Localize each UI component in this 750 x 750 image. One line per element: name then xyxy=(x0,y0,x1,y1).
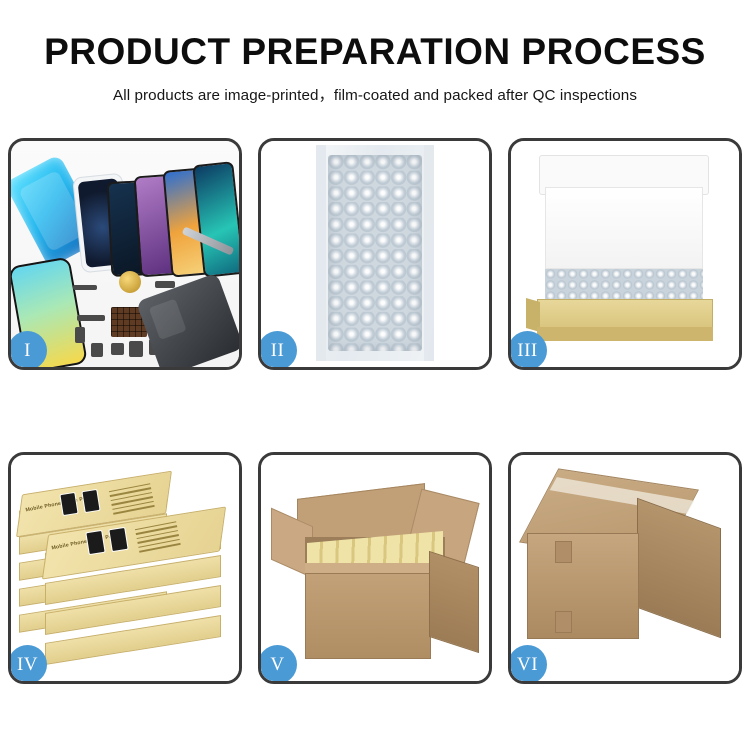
sealed-carton-photo xyxy=(511,455,739,681)
open-carton-photo xyxy=(261,455,489,681)
carton-seal-icon xyxy=(555,611,572,633)
step-badge-2: II xyxy=(258,331,297,370)
page-subtitle: All products are image-printed，film-coat… xyxy=(0,83,750,105)
flex-cable-icon xyxy=(77,315,105,321)
flex-cable-icon xyxy=(155,281,175,288)
foam-sheet-icon xyxy=(545,187,703,269)
step-panel-5: V xyxy=(258,452,492,684)
carton-side-icon xyxy=(429,551,479,653)
step-panel-3: III xyxy=(508,138,742,370)
box-stack: Mobile Phone Spare Parts Mobile Phone Sp… xyxy=(17,481,233,671)
step-badge-4: IV xyxy=(8,645,47,684)
box-screen-image xyxy=(108,527,128,552)
yellow-box-base-icon xyxy=(537,299,713,329)
bubble-wrap-icon xyxy=(328,155,422,351)
yellow-box-front-icon xyxy=(537,327,713,341)
box-screen-image xyxy=(59,492,78,516)
step-badge-3: III xyxy=(508,331,547,370)
component-icon xyxy=(111,343,124,355)
step-panel-4: Mobile Phone Spare Parts Mobile Phone Sp… xyxy=(8,452,242,684)
step-panel-1: I xyxy=(8,138,242,370)
stacked-boxes-photo: Mobile Phone Spare Parts Mobile Phone Sp… xyxy=(11,455,239,681)
process-step-grid: I II III xyxy=(8,138,742,684)
spare-parts-photo xyxy=(11,141,239,367)
component-icon xyxy=(91,343,103,357)
box-screen-image xyxy=(85,530,105,555)
camera-module-icon xyxy=(129,341,143,357)
step-panel-2: II xyxy=(258,138,492,370)
carton-front-icon xyxy=(305,573,431,659)
carton-seal-icon xyxy=(555,541,572,563)
step-badge-5: V xyxy=(258,645,297,684)
header: PRODUCT PREPARATION PROCESS All products… xyxy=(0,0,750,105)
bubble-wrap-photo xyxy=(261,141,489,367)
product-preparation-infographic: PRODUCT PREPARATION PROCESS All products… xyxy=(0,0,750,750)
flex-cable-icon xyxy=(73,285,97,290)
carton-side-icon xyxy=(637,498,721,639)
step-panel-6: VI xyxy=(508,452,742,684)
connector-icon xyxy=(75,327,85,343)
phone-lineup xyxy=(107,151,239,276)
box-screen-image xyxy=(81,489,100,513)
inner-box-photo xyxy=(511,141,739,367)
step-badge-1: I xyxy=(8,331,47,370)
bubble-wrap-icon xyxy=(545,269,703,303)
carton-front-icon xyxy=(527,533,639,639)
step-badge-6: VI xyxy=(508,645,547,684)
page-title: PRODUCT PREPARATION PROCESS xyxy=(0,33,750,72)
speaker-coil-icon xyxy=(119,271,141,293)
